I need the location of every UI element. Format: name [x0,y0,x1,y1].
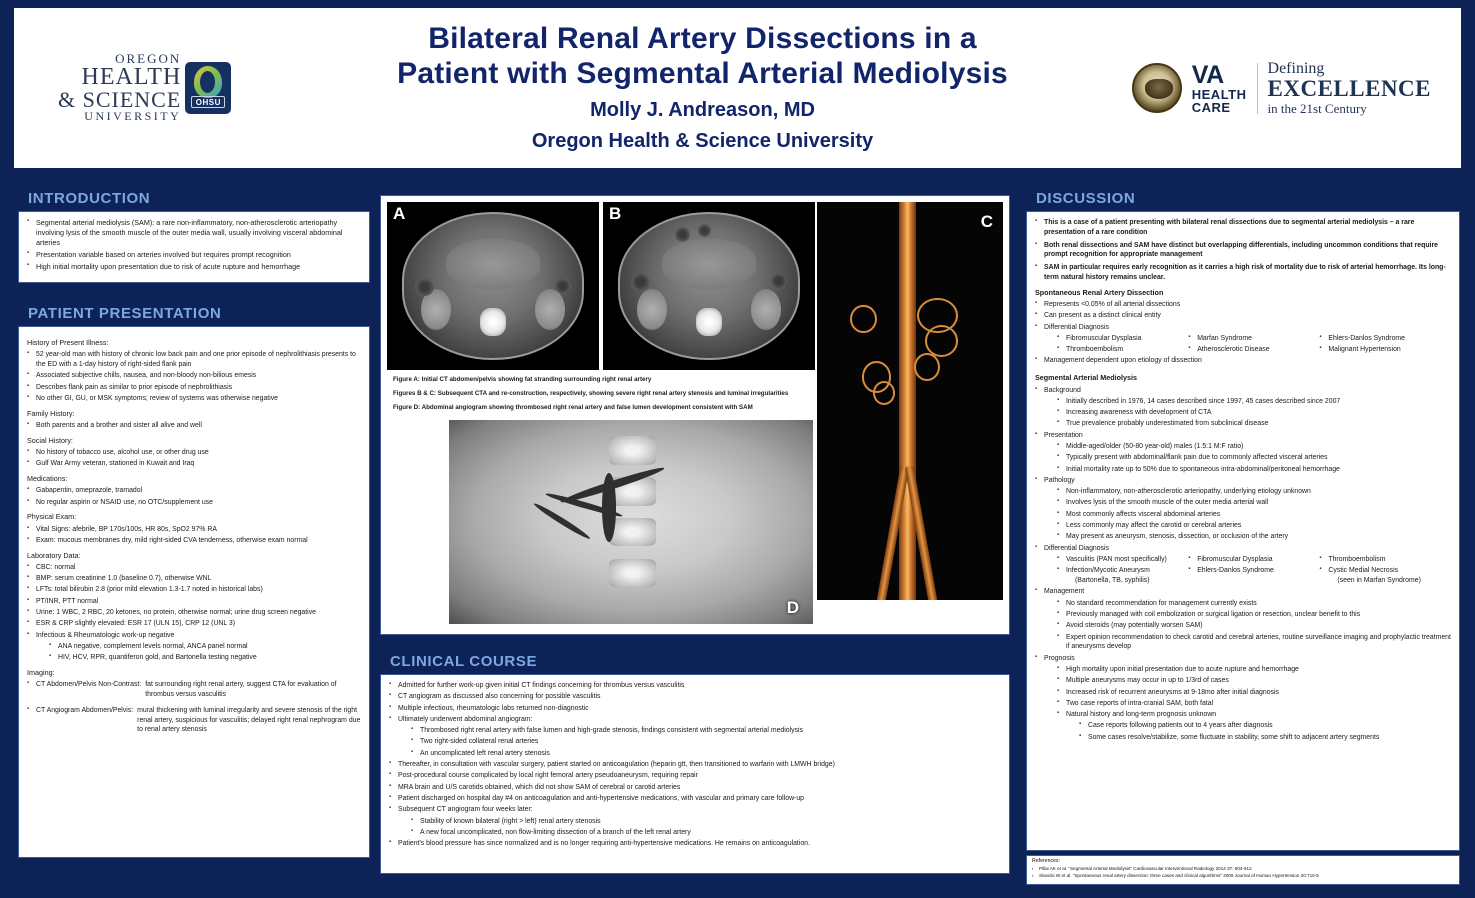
list-item: BMP: serum creatinine 1.0 (baseline 0.7)… [27,574,361,584]
clinical-course-list-2: Thereafter, in consultation with vascula… [389,760,1001,815]
list-item: Thereafter, in consultation with vascula… [389,760,1001,770]
list-item: Ultimately underwent abdominal angiogram… [389,715,1001,725]
list-item: Previously managed with coil embolizatio… [1057,610,1451,620]
list-item: Differential Diagnosis [1035,323,1451,333]
sam-prognosis-group: Prognosis [1035,654,1451,664]
list-item: A new focal uncomplicated, non flow-limi… [411,828,1001,838]
srad-ddx-col1: Fibromuscular Dysplasia Thromboembolism [1057,334,1188,355]
list-item: Two case reports of intra-cranial SAM, b… [1057,699,1451,709]
sam-management-group: Management [1035,587,1451,597]
poster-title-line2: Patient with Segmental Arterial Mediolys… [254,57,1151,92]
clinical-course-heading: CLINICAL COURSE [380,649,1010,674]
list-item: No other GI, GU, or MSK symptoms; review… [27,394,361,404]
list-item: Gulf War Army veteran, stationed in Kuwa… [27,459,361,469]
list-item: Describes flank pain as similar to prior… [27,383,361,393]
list-item: Background [1035,386,1451,396]
list-item: Avoid steroids (may potentially worsen S… [1057,621,1451,631]
sam-ddx-col1: Vasculitis (PAN most specifically) Infec… [1057,555,1188,586]
list-item: Post-procedural course complicated by lo… [389,771,1001,781]
laboratory-data-list: CBC: normal BMP: serum creatinine 1.0 (b… [27,563,361,641]
list-item: Presentation variable based on arteries … [27,250,361,260]
group-label-physical-exam: Physical Exam: [27,512,361,522]
list-item: Multiple aneurysms may occur in up to 1/… [1057,676,1451,686]
list-item: Cystic Medial Necrosis (seen in Marfan S… [1319,566,1450,586]
poster-root: OREGON HEALTH & SCIENCE UNIVERSITY OHSU … [0,0,1475,898]
va-care-label: CARE [1192,101,1247,114]
list-item: Middle-aged/older (50-80 year-old) males… [1057,442,1451,452]
ohsu-logo: OREGON HEALTH & SCIENCE UNIVERSITY OHSU [14,53,244,123]
list-item: Initial mortality rate up to 50% due to … [1057,465,1451,475]
sam-presentation-list: Middle-aged/older (50-80 year-old) males… [1057,442,1451,474]
physical-exam-list: Vital Signs: afebrile, BP 170s/100s, HR … [27,525,361,546]
group-label-family-history: Family History: [27,409,361,419]
list-item: May present as aneurysm, stenosis, disse… [1057,532,1451,542]
poster-header: OREGON HEALTH & SCIENCE UNIVERSITY OHSU … [14,8,1461,168]
discussion-lead-list: This is a case of a patient presenting w… [1035,218,1451,283]
va-health-label: HEALTH [1192,88,1247,101]
list-item: True prevalence probably underestimated … [1057,419,1451,429]
list-item: Vasculitis (PAN most specifically) [1057,555,1188,565]
list-item: LFTs: total bilirubin 2.8 (prior mild el… [27,585,361,595]
list-item: Management [1035,587,1451,597]
list-item: Most commonly affects visceral abdominal… [1057,510,1451,520]
srad-ddx-col3: Ehlers-Danlos Syndrome Malignant Hyperte… [1319,334,1450,355]
sam-background-group: Background [1035,386,1451,396]
list-item: Ehlers-Danlos Syndrome [1188,566,1319,576]
list-item: CT Abdomen/Pelvis Non-Contrast: fat surr… [27,680,361,700]
list-item: Both parents and a brother and sister al… [27,421,361,431]
srad-list: Represents <0.05% of all arterial dissec… [1035,300,1451,332]
va-healthcare-wordmark: VA HEALTH CARE [1192,63,1258,114]
ohsu-mark-text: OHSU [191,96,225,108]
imaging-term: CT Angiogram Abdomen/Pelvis: [36,706,133,735]
list-item: Patient discharged on hospital day #4 on… [389,794,1001,804]
ohsu-logo-line4: UNIVERSITY [58,111,181,123]
ddx-item-note: (Bartonella, TB, syphilis) [1066,576,1188,586]
poster-author: Molly J. Andreason, MD [254,98,1151,123]
list-item: Increasing awareness with development of… [1057,408,1451,418]
sam-ddx-col3: Thromboembolism Cystic Medial Necrosis (… [1319,555,1450,586]
list-item: Prognosis [1035,654,1451,664]
list-item: Differential Diagnosis [1035,544,1451,554]
list-item: Initially described in 1976, 14 cases de… [1057,397,1451,407]
list-item: Marfan Syndrome [1188,334,1319,344]
figure-label-a: A [393,204,405,224]
ddx-item-text: Infection/Mycotic Aneurysm [1066,567,1150,574]
ddx-item-note: (seen in Marfan Syndrome) [1328,576,1450,586]
list-item: Thrombosed right renal artery with false… [411,726,1001,736]
list-item: MRA brain and U/S carotids obtained, whi… [389,783,1001,793]
list-item: Involves lysis of the smooth muscle of t… [1057,498,1451,508]
social-history-list: No history of tobacco use, alcohol use, … [27,448,361,469]
clinical-course-sub-list-2: Stability of known bilateral (right > le… [411,817,1001,838]
list-item: Fibromuscular Dysplasia [1057,334,1188,344]
sam-differential-columns: Vasculitis (PAN most specifically) Infec… [1057,555,1451,587]
ddx-item-text: Cystic Medial Necrosis [1328,567,1398,574]
introduction-list: Segmental arterial mediolysis (SAM): a r… [27,218,361,272]
list-item: Admitted for further work-up given initi… [389,681,1001,691]
list-item: Fibromuscular Dysplasia [1188,555,1319,565]
list-item: Non-inflammatory, non-atherosclerotic ar… [1057,487,1451,497]
list-item: Gabapentin, omeprazole, tramadol [27,486,361,496]
discussion-panel: This is a case of a patient presenting w… [1026,211,1460,851]
imaging-desc: mural thickening with luminal irregulari… [137,706,361,735]
list-item: CT angiogram as discussed also concernin… [389,692,1001,702]
group-label-social-history: Social History: [27,436,361,446]
ohsu-flame-icon: OHSU [185,62,231,114]
list-item: Infectious & Rheumatologic work-up negat… [27,631,361,641]
list-item: Some cases resolve/stabilize, some fluct… [1079,733,1451,743]
figure-label-c: C [981,212,993,232]
va-label: VA [1192,63,1247,88]
figures-panel: A B [380,195,1010,635]
list-item: Infection/Mycotic Aneurysm (Bartonella, … [1057,566,1188,586]
introduction-heading: INTRODUCTION [18,186,370,211]
list-item: Presentation [1035,431,1451,441]
list-item: Increased risk of recurrent aneurysms at… [1057,688,1451,698]
sam-management-list: No standard recommendation for managemen… [1057,599,1451,652]
references-list: Pillai AK et al. "Segmental Arterial Med… [1032,866,1454,880]
title-block: Bilateral Renal Artery Dissections in a … [244,22,1161,154]
figure-c-3d-reconstruction: C [817,202,1003,600]
ohsu-logo-line3: & SCIENCE [58,89,181,111]
srad-closing-list: Management dependent upon etiology of di… [1035,356,1451,366]
list-item: CT Angiogram Abdomen/Pelvis: mural thick… [27,706,361,735]
list-item: Both renal dissections and SAM have dist… [1035,241,1451,261]
list-item: ESR & CRP slightly elevated: ESR 17 (ULN… [27,619,361,629]
list-item: Ehlers-Danlos Syndrome [1319,334,1450,344]
list-item: Expert opinion recommendation to check c… [1057,633,1451,653]
center-column: A B [380,195,1010,874]
clinical-course-list-1: Admitted for further work-up given initi… [389,681,1001,725]
figure-label-b: B [609,204,621,224]
list-item: CBC: normal [27,563,361,573]
srad-subheading: Spontaneous Renal Artery Dissection [1035,288,1451,298]
list-item: No history of tobacco use, alcohol use, … [27,448,361,458]
sam-pathology-group: Pathology [1035,476,1451,486]
list-item: Slavicki W et al. "Spontaneous renal art… [1032,873,1454,880]
medications-list: Gabapentin, omeprazole, tramadol No regu… [27,486,361,507]
list-item: SAM in particular requires early recogni… [1035,263,1451,283]
figure-b-cta-image: B [603,202,815,370]
list-item: Stability of known bilateral (right > le… [411,817,1001,827]
list-item: ANA negative, complement levels normal, … [49,642,361,652]
group-label-laboratory-data: Laboratory Data: [27,551,361,561]
sam-ddx-col2: Fibromuscular Dysplasia Ehlers-Danlos Sy… [1188,555,1319,576]
figure-a-ct-image: A [387,202,599,370]
poster-title-line1: Bilateral Renal Artery Dissections in a [254,22,1151,57]
list-item: High mortality upon initial presentation… [1057,665,1451,675]
imaging-list: CT Abdomen/Pelvis Non-Contrast: fat surr… [27,680,361,735]
group-label-imaging: Imaging: [27,668,361,678]
list-item: Malignant Hypertension [1319,345,1450,355]
list-item: Can present as a distinct clinical entit… [1035,311,1451,321]
list-item: Multiple infectious, rheumatologic labs … [389,704,1001,714]
list-item: Two right-sided collateral renal arterie… [411,737,1001,747]
patient-presentation-heading: PATIENT PRESENTATION [18,301,370,326]
sam-prognosis-list: High mortality upon initial presentation… [1057,665,1451,720]
list-item: This is a case of a patient presenting w… [1035,218,1451,238]
sam-subheading: Segmental Arterial Mediolysis [1035,373,1451,383]
list-item: Less commonly may affect the carotid or … [1057,521,1451,531]
list-item: High initial mortality upon presentation… [27,262,361,272]
sam-presentation-group: Presentation [1035,431,1451,441]
list-item: Thromboembolism [1319,555,1450,565]
figure-d-angiogram-image: D [449,420,813,624]
list-item: Pillai AK et al. "Segmental Arterial Med… [1032,866,1454,873]
introduction-panel: Segmental arterial mediolysis (SAM): a r… [18,211,370,283]
list-item: Natural history and long-term prognosis … [1057,710,1451,720]
sam-pathology-list: Non-inflammatory, non-atherosclerotic ar… [1057,487,1451,542]
list-item: PT/INR, PTT normal [27,597,361,607]
clinical-course-panel: Admitted for further work-up given initi… [380,674,1010,874]
laboratory-sub-list: ANA negative, complement levels normal, … [49,642,361,663]
poster-institution: Oregon Health & Science University [254,129,1151,154]
list-item: Represents <0.05% of all arterial dissec… [1035,300,1451,310]
list-item: No standard recommendation for managemen… [1057,599,1451,609]
list-item: Associated subjective chills, nausea, an… [27,371,361,381]
references-heading: References: [1032,858,1454,866]
list-item: An uncomplicated left renal artery steno… [411,749,1001,759]
family-history-list: Both parents and a brother and sister al… [27,421,361,431]
list-item: Segmental arterial mediolysis (SAM): a r… [27,218,361,249]
sam-prognosis-sub-list: Case reports following patients out to 4… [1079,721,1451,742]
group-label-medications: Medications: [27,474,361,484]
list-item: Urine: 1 WBC, 2 RBC, 20 ketones, no prot… [27,608,361,618]
va-logo: VA HEALTH CARE Defining EXCELLENCE in th… [1161,60,1461,116]
list-item: Vital Signs: afebrile, BP 170s/100s, HR … [27,525,361,535]
list-item: Subsequent CT angiogram four weeks later… [389,805,1001,815]
sam-ddx-group: Differential Diagnosis [1035,544,1451,554]
list-item: Management dependent upon etiology of di… [1035,356,1451,366]
list-item: Exam: mucous membranes dry, mild right-s… [27,536,361,546]
left-column: INTRODUCTION Segmental arterial mediolys… [18,186,370,858]
figure-label-d: D [787,598,799,618]
imaging-desc: fat surrounding right renal artery, sugg… [145,680,361,700]
srad-differential-columns: Fibromuscular Dysplasia Thromboembolism … [1057,334,1451,357]
group-label-hpi: History of Present Illness: [27,338,361,348]
list-item: Typically present with abdominal/flank p… [1057,453,1451,463]
figure-row-top: A B [387,202,1003,370]
list-item: Patient's blood pressure has since norma… [389,839,1001,849]
srad-ddx-col2: Marfan Syndrome Atherosclerotic Disease [1188,334,1319,355]
sam-background-list: Initially described in 1976, 14 cases de… [1057,397,1451,429]
defining-excellence-wordmark: Defining EXCELLENCE in the 21st Century [1268,60,1431,116]
right-column: DISCUSSION This is a case of a patient p… [1026,186,1460,851]
clinical-course-sub-list-1: Thrombosed right renal artery with false… [411,726,1001,758]
clinical-course-list-3: Patient's blood pressure has since norma… [389,839,1001,849]
list-item: HIV, HCV, RPR, quantiferon gold, and Bar… [49,653,361,663]
imaging-term: CT Abdomen/Pelvis Non-Contrast: [36,680,141,700]
hpi-list: 52 year-old man with history of chronic … [27,350,361,403]
century-label: in the 21st Century [1268,102,1431,116]
list-item: Case reports following patients out to 4… [1079,721,1451,731]
references-panel: References: Pillai AK et al. "Segmental … [1026,855,1460,885]
defining-label: Defining [1268,60,1431,77]
discussion-heading: DISCUSSION [1026,186,1460,211]
list-item: Thromboembolism [1057,345,1188,355]
list-item: No regular aspirin or NSAID use, no OTC/… [27,498,361,508]
excellence-label: EXCELLENCE [1268,77,1431,102]
list-item: 52 year-old man with history of chronic … [27,350,361,370]
ohsu-logo-line2: HEALTH [58,66,181,90]
va-seal-icon [1132,63,1182,113]
patient-presentation-panel: History of Present Illness: 52 year-old … [18,326,370,858]
list-item: Pathology [1035,476,1451,486]
list-item: Atherosclerotic Disease [1188,345,1319,355]
